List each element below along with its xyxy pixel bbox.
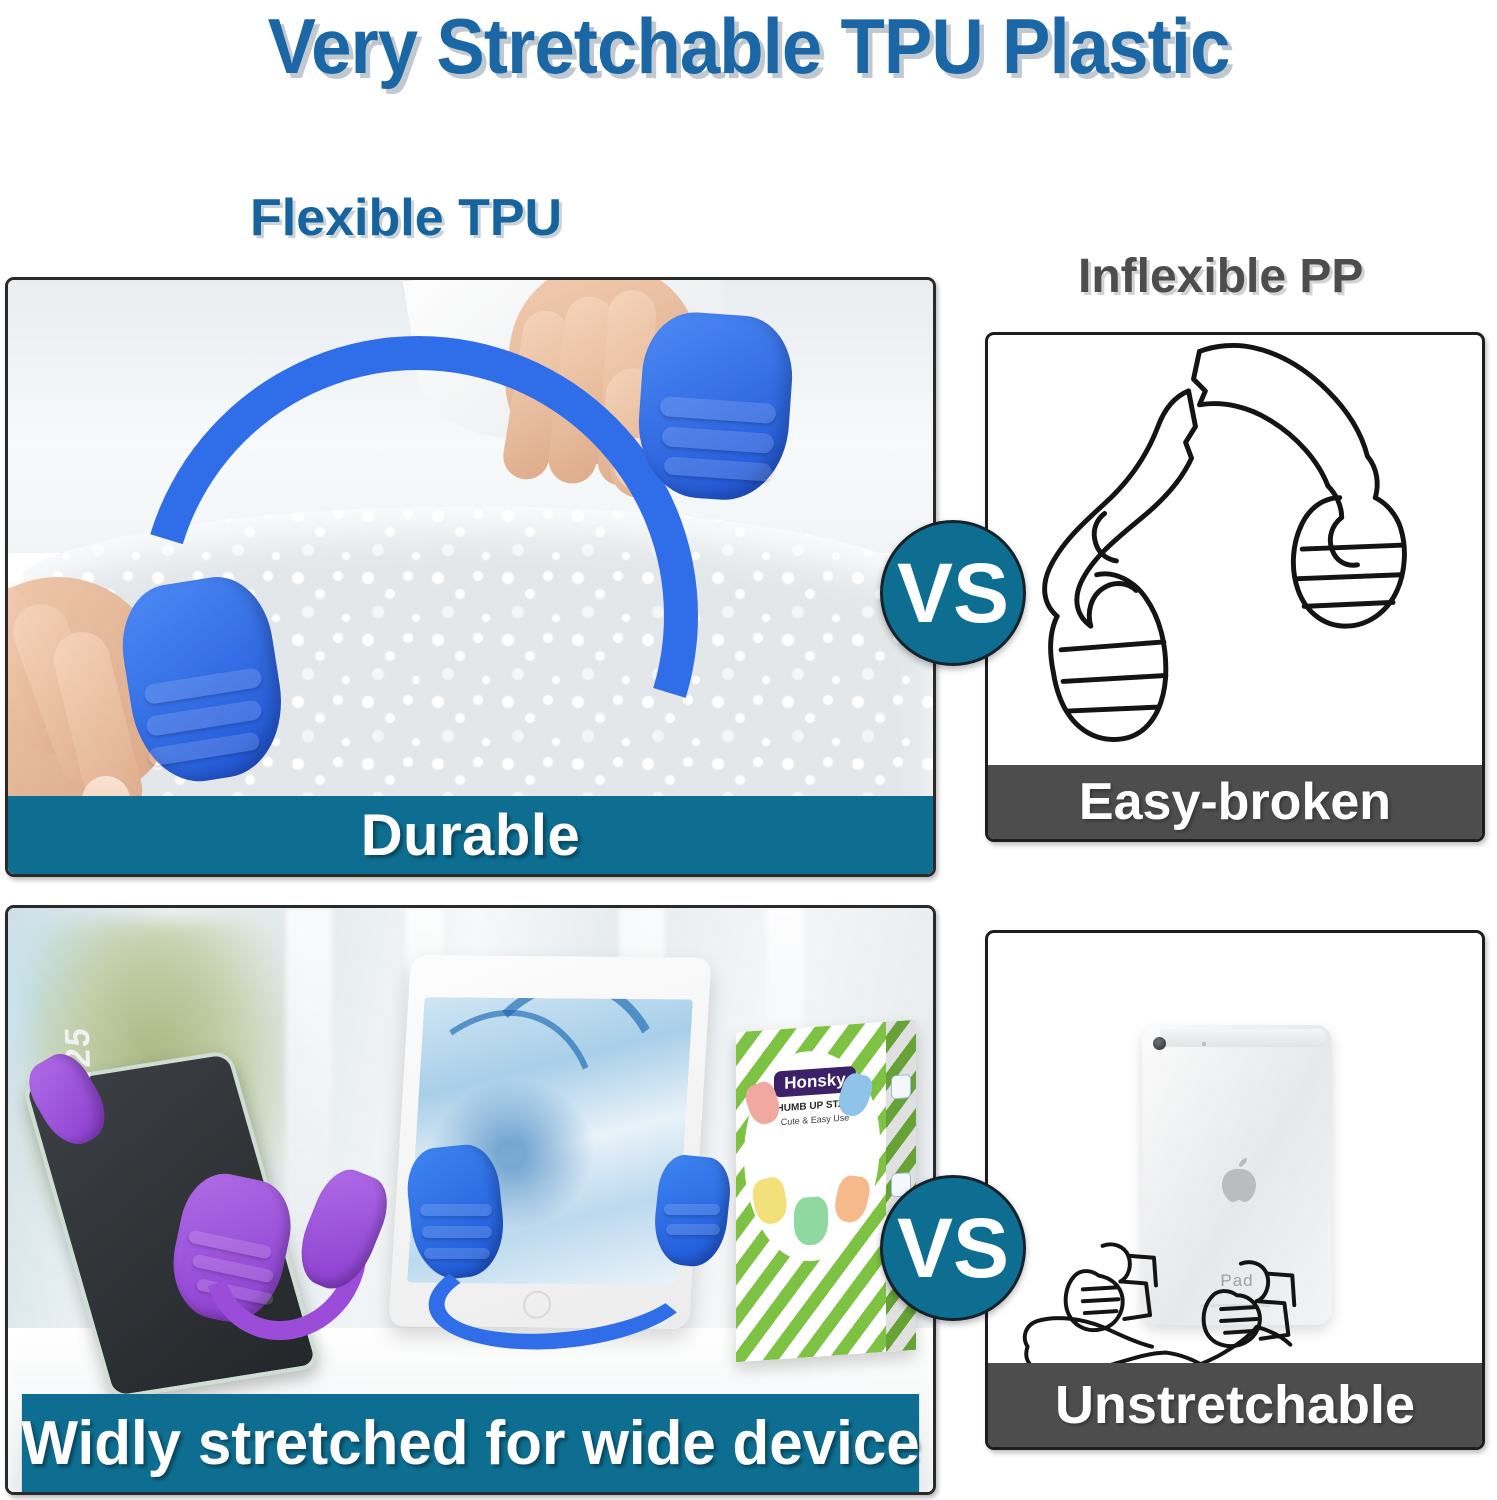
- unstretchable-scene: Pad: [988, 933, 1482, 1447]
- caption-easy-broken: Easy-broken: [988, 765, 1482, 839]
- caption-durable: Durable: [8, 796, 933, 874]
- broken-stand-illustration: [988, 335, 1482, 771]
- microphone-dot: [1202, 1042, 1206, 1046]
- panel-durable-photo: Durable: [5, 277, 936, 877]
- label-inflexible-pp: Inflexible PP: [1078, 249, 1363, 304]
- vs-badge-bottom: VS: [880, 1175, 1026, 1321]
- antenna-band: [1160, 1029, 1326, 1047]
- package-icon: [891, 1074, 911, 1099]
- panel-easy-broken-drawing: Easy-broken: [985, 332, 1485, 842]
- brand-logo-icon: [1215, 1155, 1259, 1205]
- vs-badge-top: VS: [880, 520, 1026, 666]
- panel-unstretchable-drawing: Pad: [985, 930, 1485, 1450]
- caption-widly-stretched: Widly stretched for wide device: [22, 1394, 919, 1492]
- panel-wide-device-photo: 19:25 Honsky THUMB UP STAND: [5, 905, 936, 1495]
- thumb-knuckle: [666, 1224, 720, 1235]
- thumb-knuckle: [420, 1204, 492, 1216]
- durable-scene: Durable: [8, 280, 933, 874]
- product-package: Honsky THUMB UP STAND Cute & Easy Use: [736, 1020, 916, 1363]
- package-thumb-art: [794, 1196, 828, 1246]
- rear-camera: [1153, 1037, 1166, 1050]
- thumb-knuckle: [422, 1226, 492, 1238]
- label-flexible-tpu: Flexible TPU: [250, 188, 562, 248]
- wide-device-scene: 19:25 Honsky THUMB UP STAND: [8, 908, 933, 1492]
- page-title: Very Stretchable TPU Plastic: [52, 0, 1444, 96]
- caption-unstretchable: Unstretchable: [988, 1363, 1482, 1447]
- thumb-knuckle: [664, 1204, 720, 1215]
